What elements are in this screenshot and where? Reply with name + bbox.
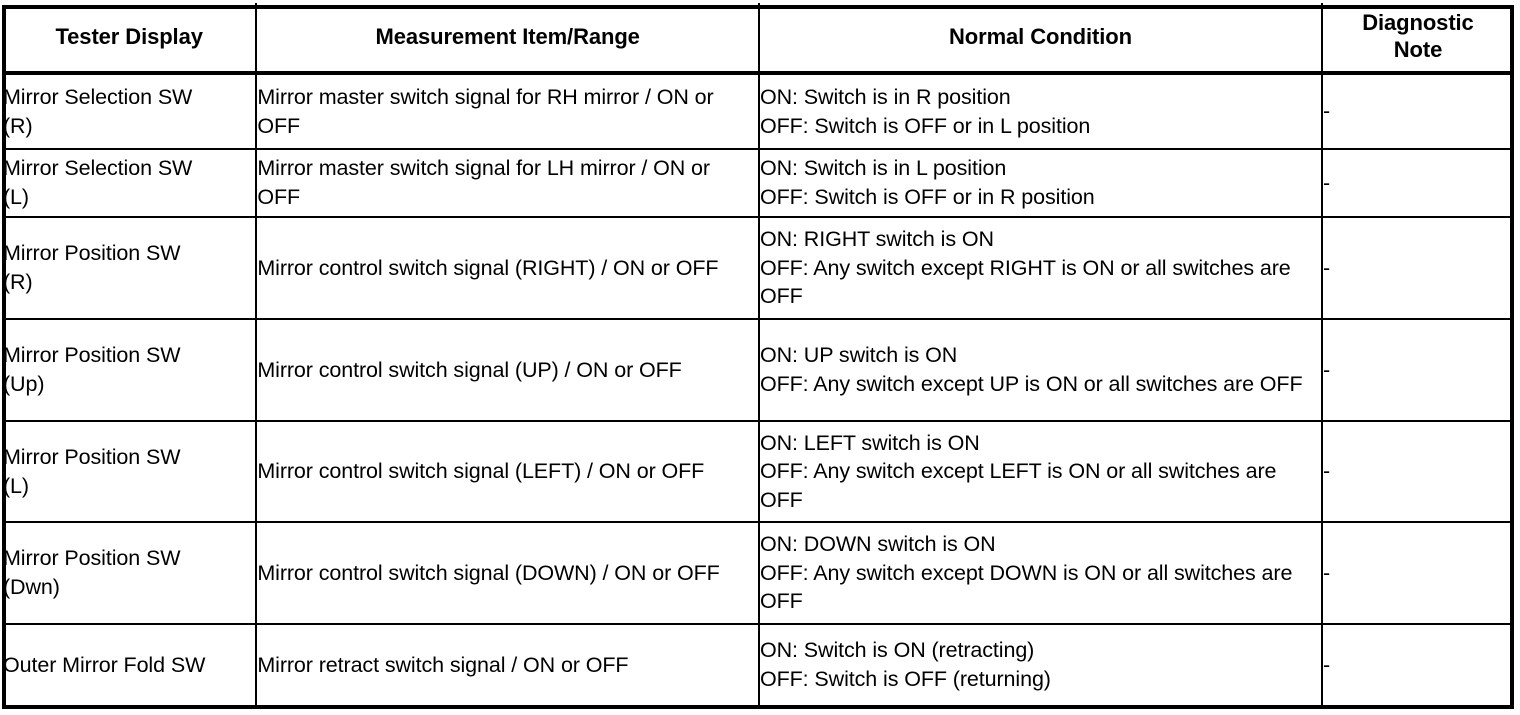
datastream-spec-sheet: Tester Display Measurement Item/Range No… — [0, 3, 1520, 715]
table-body: Mirror Selection SW (R) Mirror master sw… — [3, 73, 1513, 705]
column-header-diagnostic-note: Diagnostic Note — [1322, 3, 1513, 73]
table-row: Mirror Position SW (Dwn) Mirror control … — [3, 522, 1513, 624]
table-row: Mirror Position SW (R) Mirror control sw… — [3, 217, 1513, 319]
cell-diagnostic-note: - — [1322, 624, 1513, 705]
table-header-row: Tester Display Measurement Item/Range No… — [3, 3, 1513, 73]
datastream-specification-table: Tester Display Measurement Item/Range No… — [3, 3, 1513, 705]
cell-tester-display: Mirror Position SW (Up) — [3, 319, 256, 421]
column-header-tester-display: Tester Display — [3, 3, 256, 73]
cell-measurement-item-range: Mirror master switch signal for RH mirro… — [256, 73, 759, 149]
table-row: Mirror Selection SW (R) Mirror master sw… — [3, 73, 1513, 149]
cell-normal-condition: ON: UP switch is ON OFF: Any switch exce… — [759, 319, 1322, 421]
cell-normal-condition: ON: Switch is in L position OFF: Switch … — [759, 149, 1322, 217]
cell-tester-display: Mirror Position SW (L) — [3, 421, 256, 522]
cell-tester-display: Mirror Selection SW (R) — [3, 73, 256, 149]
table-row: Mirror Position SW (L) Mirror control sw… — [3, 421, 1513, 522]
cell-normal-condition: ON: DOWN switch is ON OFF: Any switch ex… — [759, 522, 1322, 624]
cell-normal-condition: ON: Switch is ON (retracting) OFF: Switc… — [759, 624, 1322, 705]
cell-diagnostic-note: - — [1322, 319, 1513, 421]
cell-measurement-item-range: Mirror control switch signal (LEFT) / ON… — [256, 421, 759, 522]
table-header: Tester Display Measurement Item/Range No… — [3, 3, 1513, 73]
cell-measurement-item-range: Mirror master switch signal for LH mirro… — [256, 149, 759, 217]
column-header-normal-condition: Normal Condition — [759, 3, 1322, 73]
table-row: Outer Mirror Fold SW Mirror retract swit… — [3, 624, 1513, 705]
cell-diagnostic-note: - — [1322, 522, 1513, 624]
cell-normal-condition: ON: Switch is in R position OFF: Switch … — [759, 73, 1322, 149]
cell-tester-display: Mirror Position SW (Dwn) — [3, 522, 256, 624]
table-row: Mirror Position SW (Up) Mirror control s… — [3, 319, 1513, 421]
cell-measurement-item-range: Mirror retract switch signal / ON or OFF — [256, 624, 759, 705]
cell-measurement-item-range: Mirror control switch signal (RIGHT) / O… — [256, 217, 759, 319]
cell-tester-display: Mirror Selection SW (L) — [3, 149, 256, 217]
cell-diagnostic-note: - — [1322, 73, 1513, 149]
cell-diagnostic-note: - — [1322, 217, 1513, 319]
table-row: Mirror Selection SW (L) Mirror master sw… — [3, 149, 1513, 217]
cell-measurement-item-range: Mirror control switch signal (DOWN) / ON… — [256, 522, 759, 624]
cell-normal-condition: ON: RIGHT switch is ON OFF: Any switch e… — [759, 217, 1322, 319]
cell-measurement-item-range: Mirror control switch signal (UP) / ON o… — [256, 319, 759, 421]
cell-tester-display: Mirror Position SW (R) — [3, 217, 256, 319]
cell-diagnostic-note: - — [1322, 149, 1513, 217]
column-header-measurement-item-range: Measurement Item/Range — [256, 3, 759, 73]
cell-tester-display: Outer Mirror Fold SW — [3, 624, 256, 705]
cell-diagnostic-note: - — [1322, 421, 1513, 522]
cell-normal-condition: ON: LEFT switch is ON OFF: Any switch ex… — [759, 421, 1322, 522]
